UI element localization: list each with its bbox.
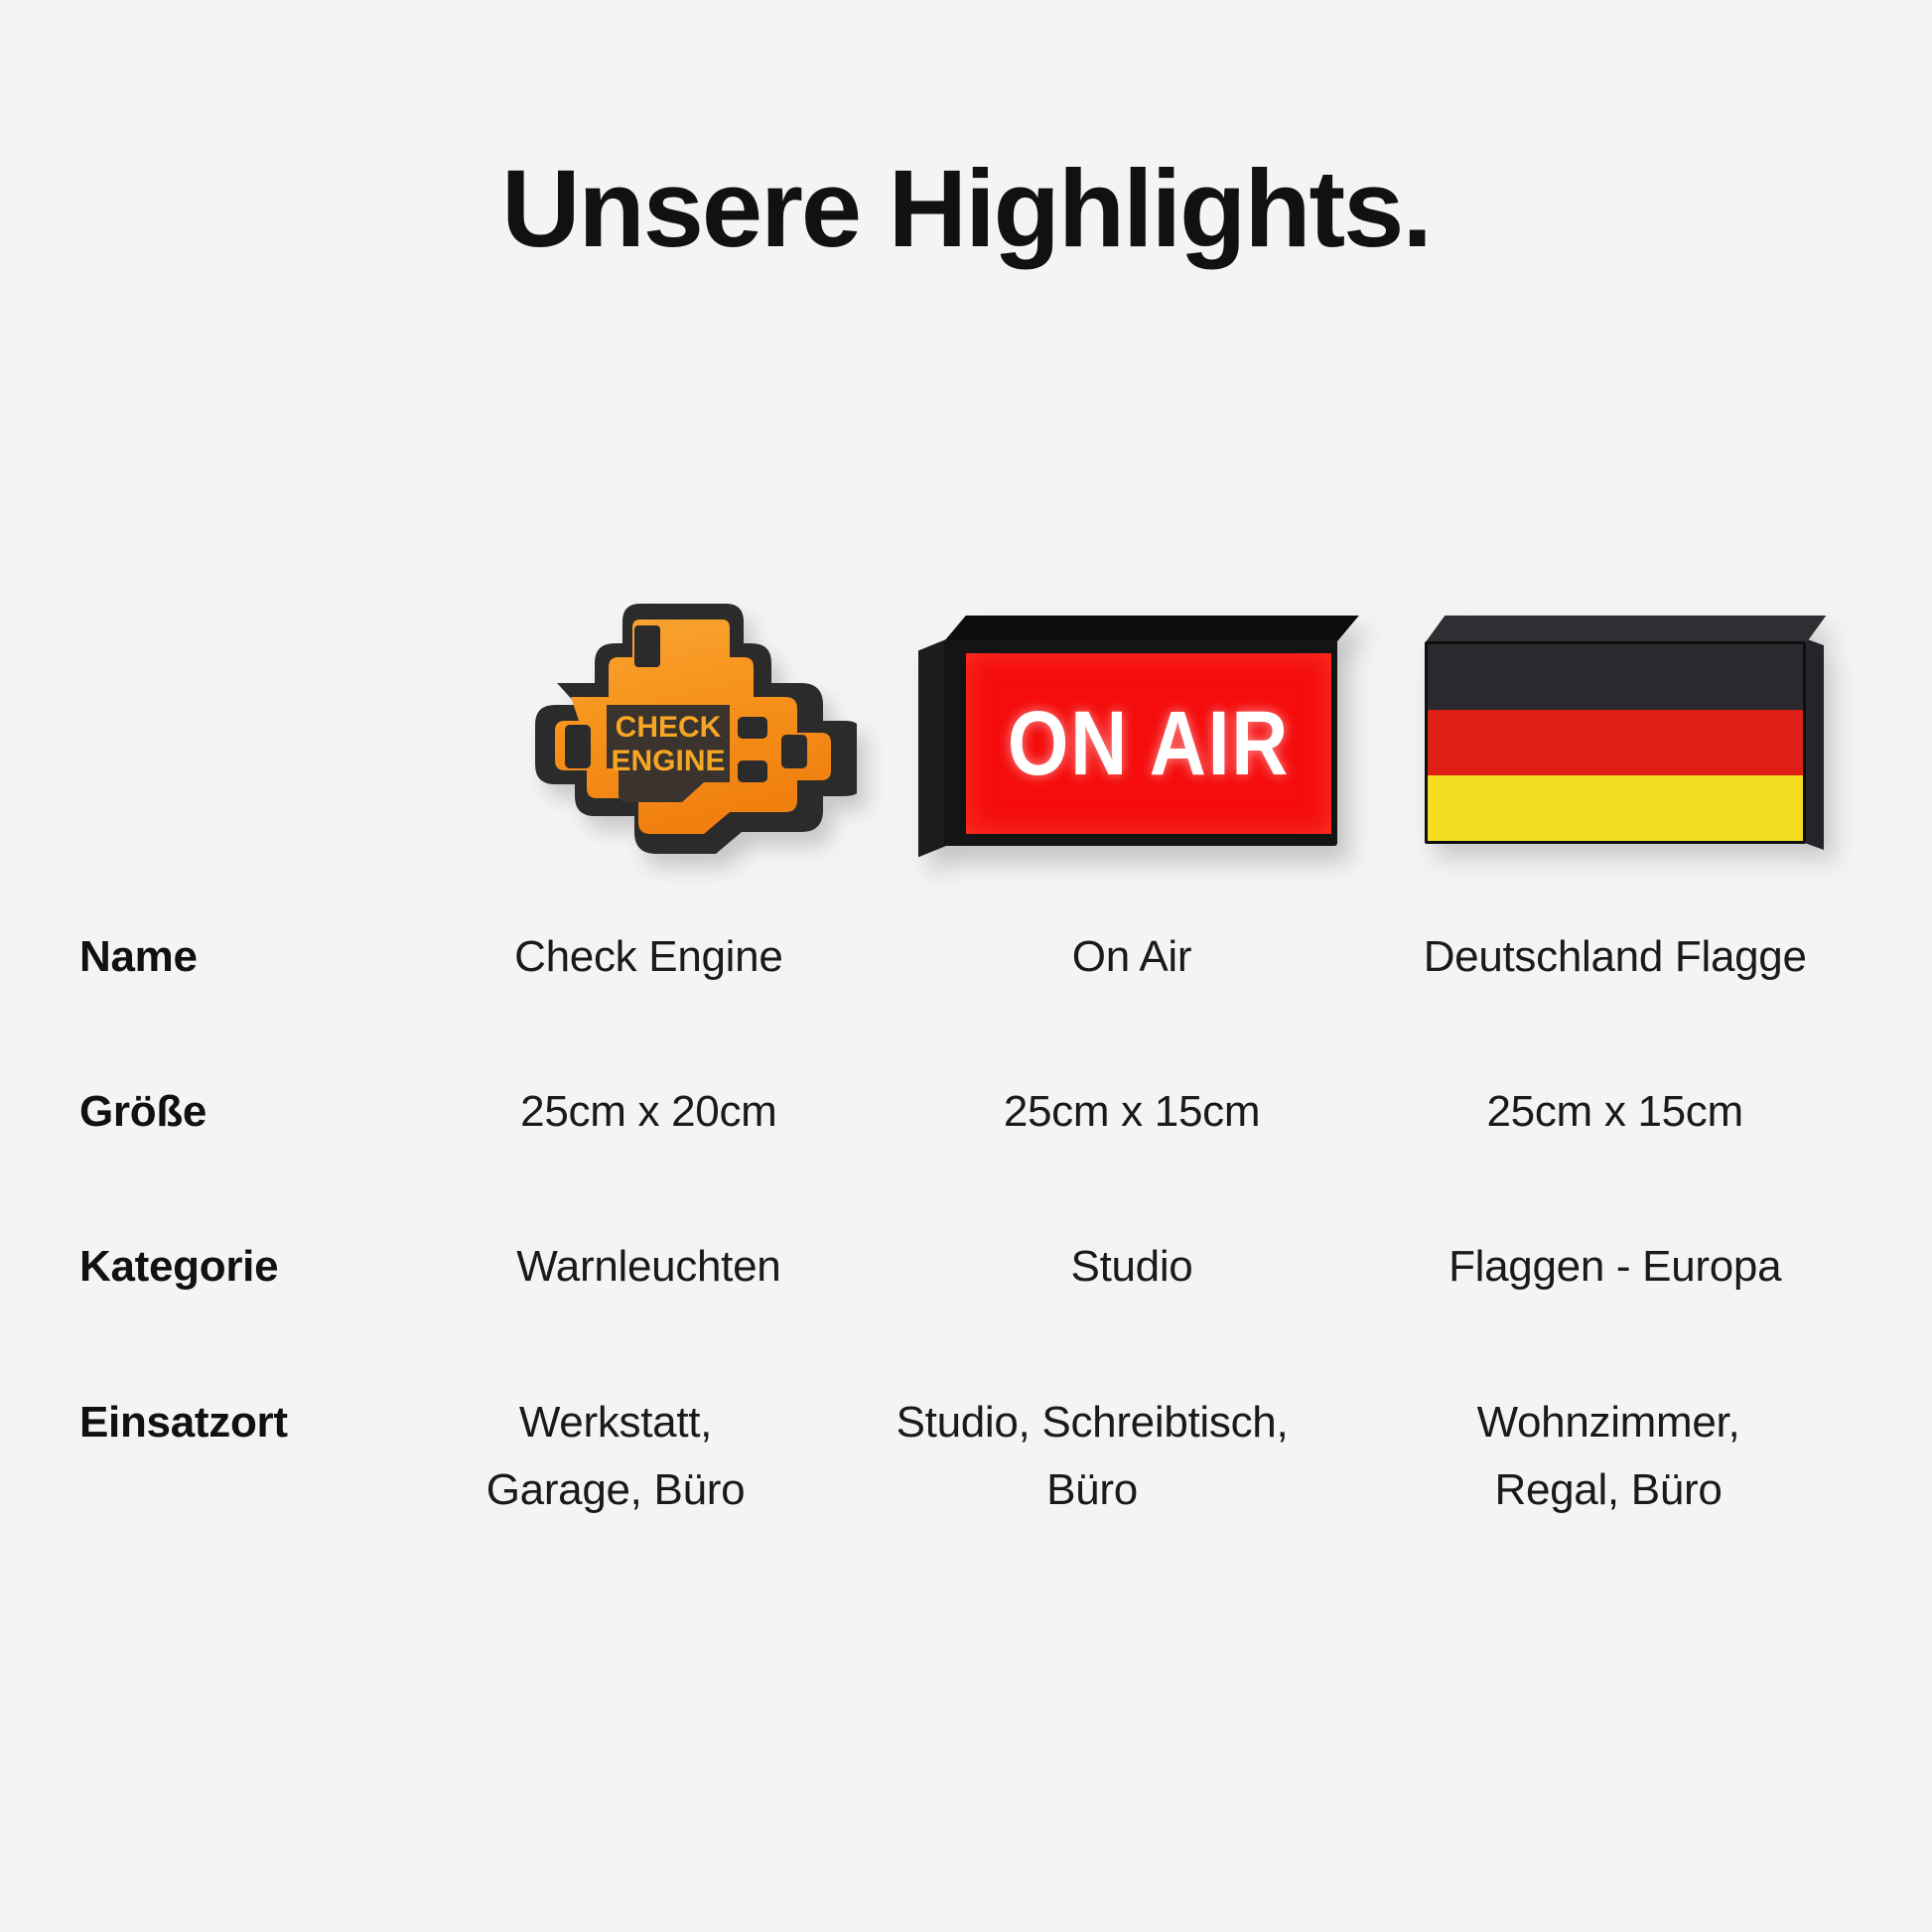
table-row: Größe 25cm x 20cm 25cm x 15cm 25cm x 15c… [79, 1078, 1857, 1146]
on-air-left-face [918, 639, 946, 857]
flag-band-red [1428, 710, 1803, 775]
flag-front-face [1425, 641, 1806, 844]
spec-label-kategorie: Kategorie [79, 1233, 407, 1299]
spec-value-name-on-air: On Air [891, 923, 1374, 991]
spec-value-kategorie-check-engine: Warnleuchten [407, 1233, 891, 1301]
page-title: Unsere Highlights. [0, 149, 1932, 269]
check-engine-icon: CHECK ENGINE [440, 566, 857, 854]
spec-value-groesse-deutschland-flagge: 25cm x 15cm [1373, 1078, 1857, 1146]
product-image-cell-deutschland-flagge[interactable] [1373, 556, 1857, 854]
on-air-lamp-text: ON AIR [992, 653, 1306, 834]
deutschland-flagge-lamp-image[interactable] [1407, 616, 1824, 854]
spec-value-name-deutschland-flagge: Deutschland Flagge [1373, 923, 1857, 991]
highlights-page: Unsere Highlights. [0, 0, 1932, 1932]
product-image-cell-check-engine[interactable]: CHECK ENGINE [407, 556, 891, 854]
spec-label-einsatzort: Einsatzort [79, 1389, 407, 1454]
spec-label-name: Name [79, 923, 407, 989]
spec-value-kategorie-on-air: Studio [891, 1233, 1374, 1301]
table-row: Einsatzort Werkstatt, Garage, Büro Studi… [79, 1389, 1857, 1524]
spec-value-name-check-engine: Check Engine [407, 923, 891, 991]
flag-band-gold [1428, 775, 1803, 841]
spec-label-groesse: Größe [79, 1078, 407, 1144]
spec-value-einsatzort-on-air: Studio, Schreibtisch, Büro [884, 1389, 1301, 1524]
check-engine-lamp-text-line1: CHECK [616, 711, 722, 744]
product-row-label-spacer [79, 556, 407, 854]
spec-value-groesse-check-engine: 25cm x 20cm [407, 1078, 891, 1146]
table-row: Kategorie Warnleuchten Studio Flaggen - … [79, 1233, 1857, 1301]
flag-top-face [1425, 616, 1826, 643]
spec-value-einsatzort-deutschland-flagge: Wohnzimmer, Regal, Büro [1420, 1389, 1797, 1524]
spec-value-kategorie-deutschland-flagge: Flaggen - Europa [1373, 1233, 1857, 1301]
spec-value-groesse-on-air: 25cm x 15cm [891, 1078, 1374, 1146]
spec-value-einsatzort-check-engine: Werkstatt, Garage, Büro [467, 1389, 764, 1524]
on-air-top-face [944, 616, 1359, 641]
specs-table: Name Check Engine On Air Deutschland Fla… [79, 923, 1857, 1524]
product-image-row: CHECK ENGINE ON AIR [79, 556, 1857, 854]
on-air-lamp-image[interactable]: ON AIR [918, 616, 1345, 854]
product-image-cell-on-air[interactable]: ON AIR [891, 556, 1374, 854]
check-engine-lamp-image[interactable]: CHECK ENGINE [440, 566, 857, 854]
flag-band-black [1428, 644, 1803, 710]
check-engine-lamp-text-line2: ENGINE [612, 745, 726, 777]
table-row: Name Check Engine On Air Deutschland Fla… [79, 923, 1857, 991]
